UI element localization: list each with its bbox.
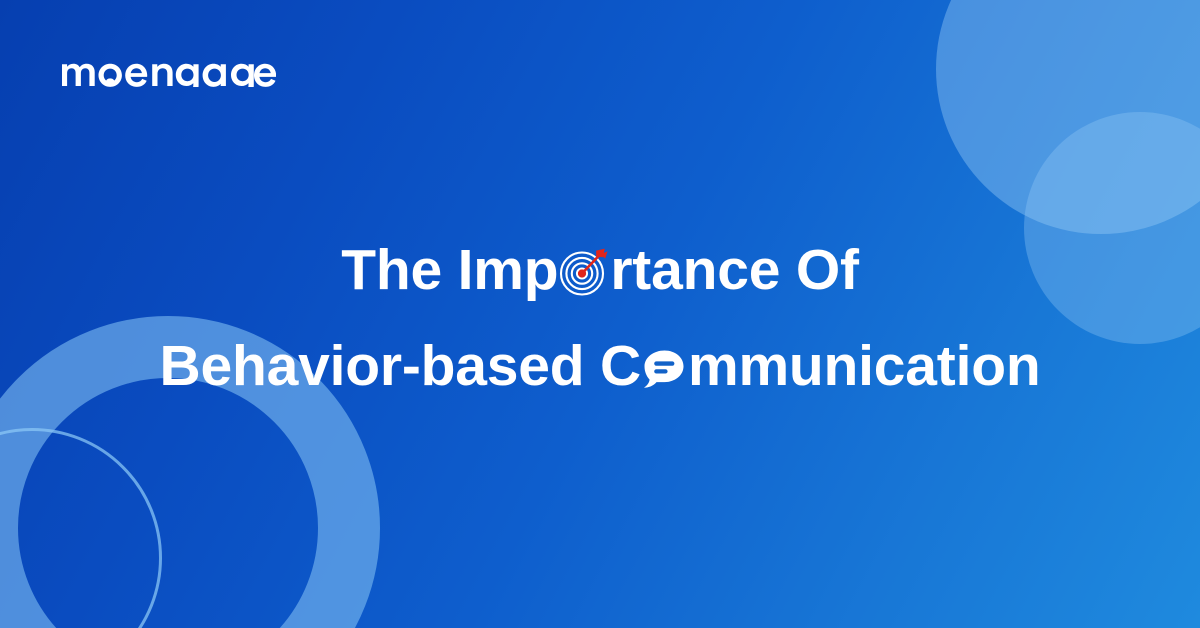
social-share-banner: moengage The Imp rtance Of	[0, 0, 1200, 628]
page-title: The Imp rtance Of Behavior-based C	[0, 222, 1200, 414]
speech-bubble-icon	[639, 344, 689, 394]
headline-line-1: The Imp rtance Of	[0, 222, 1200, 318]
headline-line2-after: mmunication	[688, 334, 1041, 398]
headline-line-2: Behavior-based C mmunication	[0, 318, 1200, 414]
headline-line2-before: Behavior-based C	[160, 334, 641, 398]
decorative-circle-top-right-large	[936, 0, 1200, 234]
target-bullseye-icon	[557, 244, 611, 298]
moengage-logo[interactable]: moengage	[62, 50, 276, 90]
headline-line1-before: The Imp	[341, 238, 558, 302]
headline-line1-after: rtance Of	[610, 238, 858, 302]
decorative-ring-bottom-left-thin	[0, 428, 162, 628]
